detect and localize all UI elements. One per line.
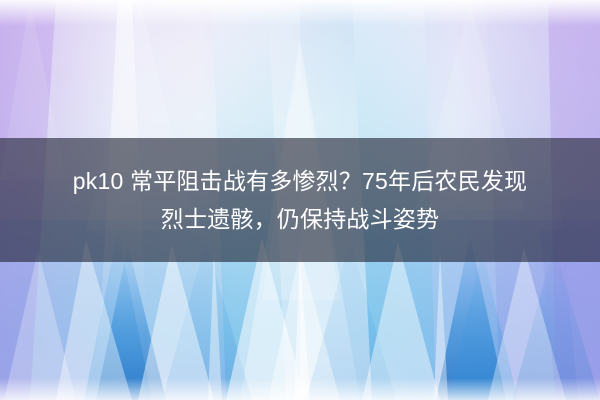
caption-line-2: 烈士遗骸，仍保持战斗姿势 [161, 200, 439, 238]
caption-overlay-band: pk10 常平阻击战有多惨烈？75年后农民发现 烈士遗骸，仍保持战斗姿势 [0, 138, 600, 262]
decorative-article-banner: pk10 常平阻击战有多惨烈？75年后农民发现 烈士遗骸，仍保持战斗姿势 · ·… [0, 0, 600, 400]
top-edge-glow [0, 0, 600, 26]
caption-line-1: pk10 常平阻击战有多惨烈？75年后农民发现 [73, 162, 527, 200]
bottom-watermark: · · · [0, 381, 600, 392]
